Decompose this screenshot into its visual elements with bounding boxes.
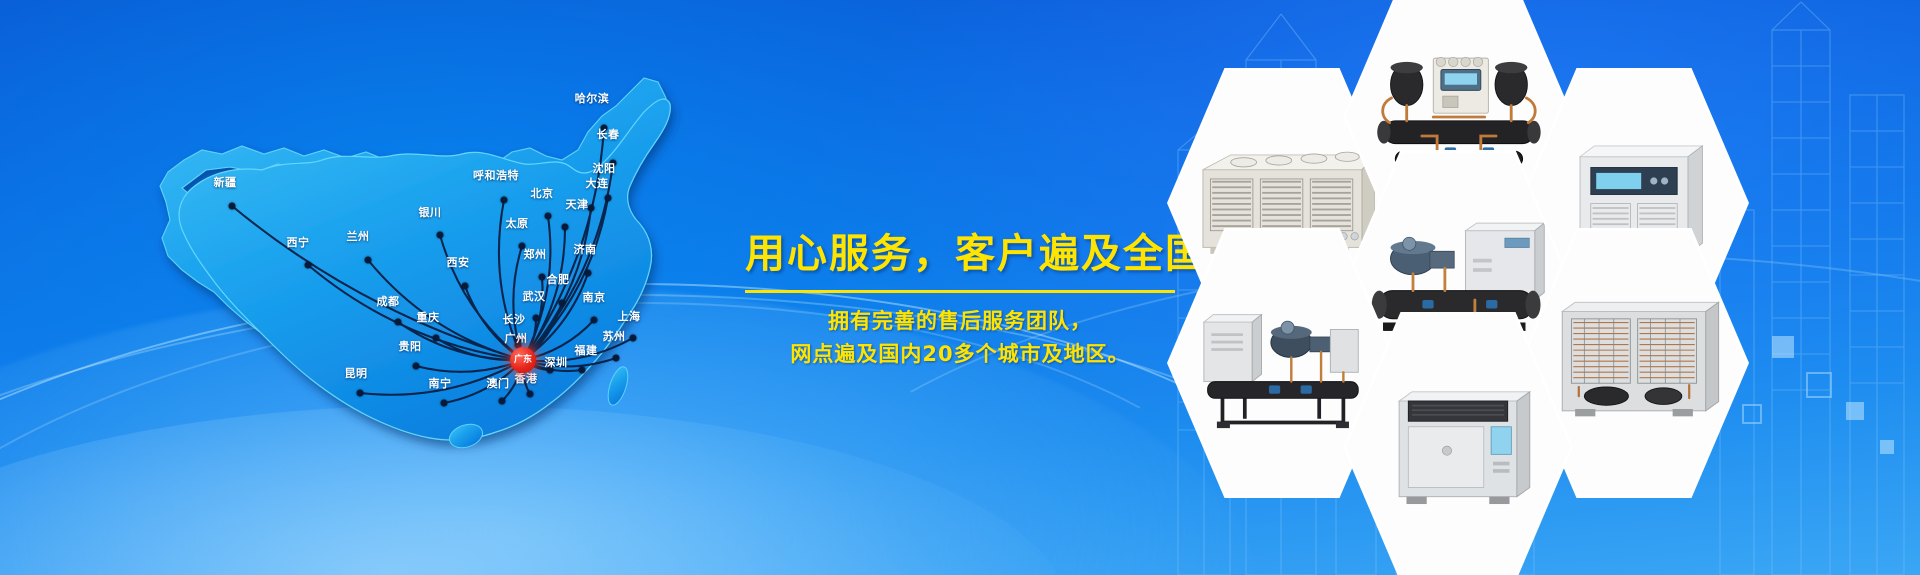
city-label-3: 大连 — [586, 175, 609, 191]
city-label-14: 济南 — [574, 241, 597, 257]
city-label-21: 成都 — [377, 293, 400, 309]
city-dot-24[interactable] — [357, 390, 364, 397]
city-dot-5[interactable] — [545, 213, 552, 220]
city-label-4: 呼和浩特 — [473, 167, 519, 183]
city-label-1: 长春 — [597, 126, 620, 142]
city-dot-4[interactable] — [501, 197, 508, 204]
city-label-7: 新疆 — [214, 174, 237, 190]
city-label-29: 广州 — [505, 330, 528, 346]
hub-marker-guangdong[interactable]: 广东 — [510, 347, 536, 373]
hub-label: 广东 — [514, 356, 532, 365]
city-dot-10[interactable] — [305, 262, 312, 269]
city-dot-26[interactable] — [499, 398, 506, 405]
city-label-24: 昆明 — [345, 365, 368, 381]
map-shape-svg — [110, 20, 730, 470]
banner-text-block: 用心服务，客户遍及全国 拥有完善的售后服务团队， 网点遍及国内20多个城市及地区… — [745, 232, 1175, 370]
city-label-11: 太原 — [506, 215, 529, 231]
city-label-28: 深圳 — [545, 354, 568, 370]
subtitle-line-2: 网点遍及国内20多个城市及地区。 — [745, 338, 1175, 371]
city-label-13: 郑州 — [524, 246, 547, 262]
city-dot-12[interactable] — [462, 283, 469, 290]
city-dot-19[interactable] — [533, 315, 540, 322]
city-dot-27[interactable] — [527, 391, 534, 398]
city-dot-22[interactable] — [433, 335, 440, 342]
city-label-16: 南京 — [583, 289, 606, 305]
city-dot-7[interactable] — [229, 203, 236, 210]
city-dot-2[interactable] — [605, 195, 612, 202]
city-label-12: 西安 — [447, 254, 470, 270]
city-dot-6[interactable] — [562, 224, 569, 231]
title-divider — [745, 290, 1175, 293]
city-label-9: 兰州 — [347, 228, 370, 244]
city-label-20: 长沙 — [503, 311, 526, 327]
condenser-coil-unit-image — [1542, 289, 1726, 437]
city-label-15: 合肥 — [547, 271, 570, 287]
city-label-0: 哈尔滨 — [575, 90, 610, 106]
city-label-25: 南宁 — [429, 375, 452, 391]
city-label-5: 北京 — [531, 185, 554, 201]
subtitle-line-1: 拥有完善的售后服务团队， — [745, 305, 1175, 338]
page-title: 用心服务，客户遍及全国 — [745, 232, 1175, 276]
city-label-2: 沈阳 — [593, 160, 616, 176]
city-dot-30[interactable] — [579, 367, 586, 374]
city-dot-8[interactable] — [437, 232, 444, 239]
city-dot-17[interactable] — [630, 335, 637, 342]
city-dot-13[interactable] — [539, 274, 546, 281]
city-dot-25[interactable] — [441, 400, 448, 407]
city-dot-14[interactable] — [585, 270, 592, 277]
city-label-8: 银川 — [419, 204, 442, 220]
city-dot-21[interactable] — [395, 319, 402, 326]
city-label-6: 天津 — [566, 196, 589, 212]
city-dot-18[interactable] — [613, 355, 620, 362]
city-dot-9[interactable] — [365, 257, 372, 264]
city-label-30: 福建 — [575, 342, 598, 358]
city-label-18: 苏州 — [603, 328, 626, 344]
china-distribution-map: 哈尔滨长春沈阳大连呼和浩特北京天津新疆银川兰州西宁太原西安郑州济南合肥南京上海苏… — [110, 20, 730, 470]
promotional-banner: 哈尔滨长春沈阳大连呼和浩特北京天津新疆银川兰州西宁太原西安郑州济南合肥南京上海苏… — [0, 0, 1920, 575]
city-dot-23[interactable] — [413, 363, 420, 370]
city-dot-16[interactable] — [591, 317, 598, 324]
city-label-23: 贵阳 — [399, 338, 422, 354]
city-dot-15[interactable] — [559, 300, 566, 307]
city-label-22: 重庆 — [417, 309, 440, 325]
city-label-10: 西宁 — [287, 234, 310, 250]
open-frame-chiller-image — [1189, 288, 1375, 438]
city-label-19: 武汉 — [523, 288, 546, 304]
industrial-water-chiller-image — [1366, 373, 1550, 521]
city-dot-3[interactable] — [588, 205, 595, 212]
city-label-17: 上海 — [618, 308, 641, 324]
product-hexagon-grid — [1175, 0, 1920, 575]
city-label-26: 澳门 — [487, 375, 510, 391]
